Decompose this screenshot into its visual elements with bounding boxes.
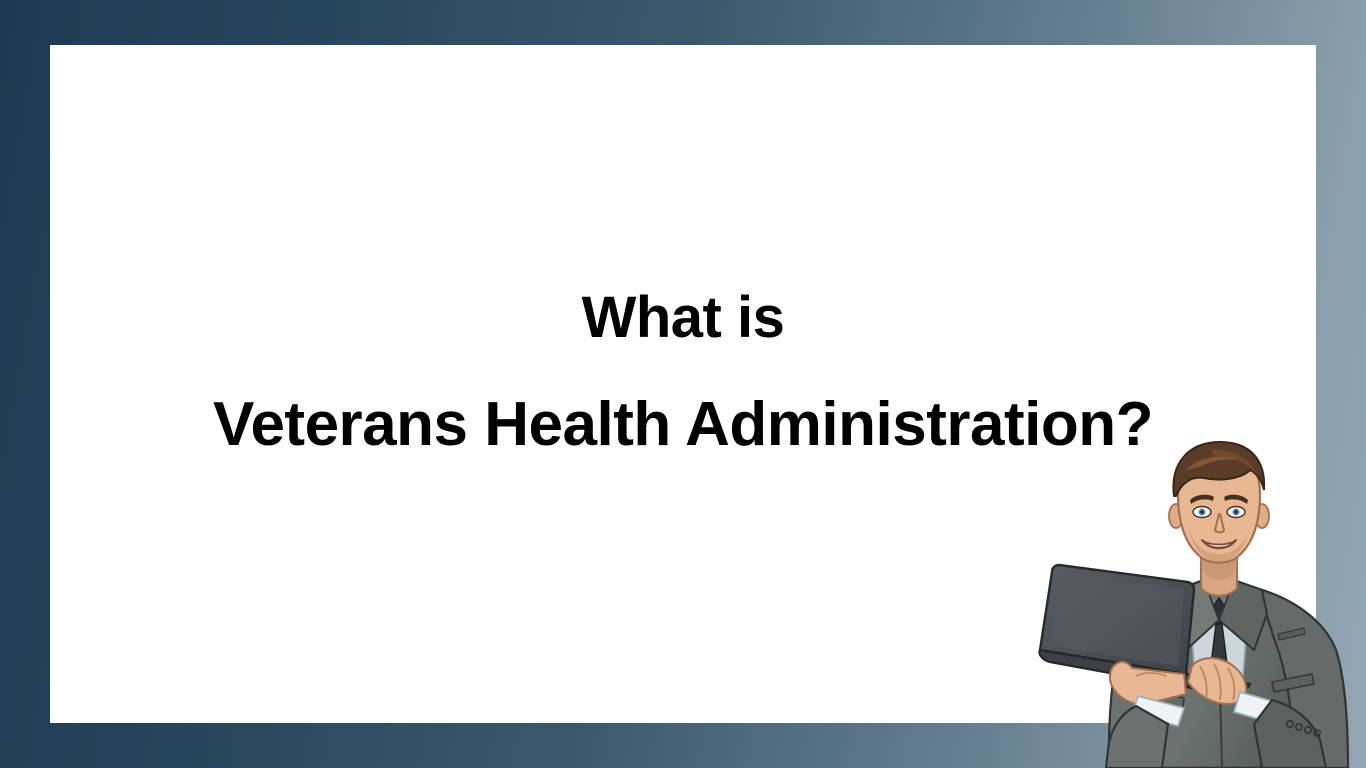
content-card: What is Veterans Health Administration? <box>50 45 1316 723</box>
sleeve-button-3 <box>1305 727 1311 733</box>
slide-canvas: What is Veterans Health Administration? <box>0 0 1366 768</box>
title-line-1: What is <box>582 287 785 350</box>
sleeve-button-4 <box>1314 730 1320 736</box>
title-line-2: Veterans Health Administration? <box>213 392 1153 459</box>
sleeve-button-2 <box>1296 724 1302 730</box>
title-block: What is Veterans Health Administration? <box>50 45 1316 723</box>
